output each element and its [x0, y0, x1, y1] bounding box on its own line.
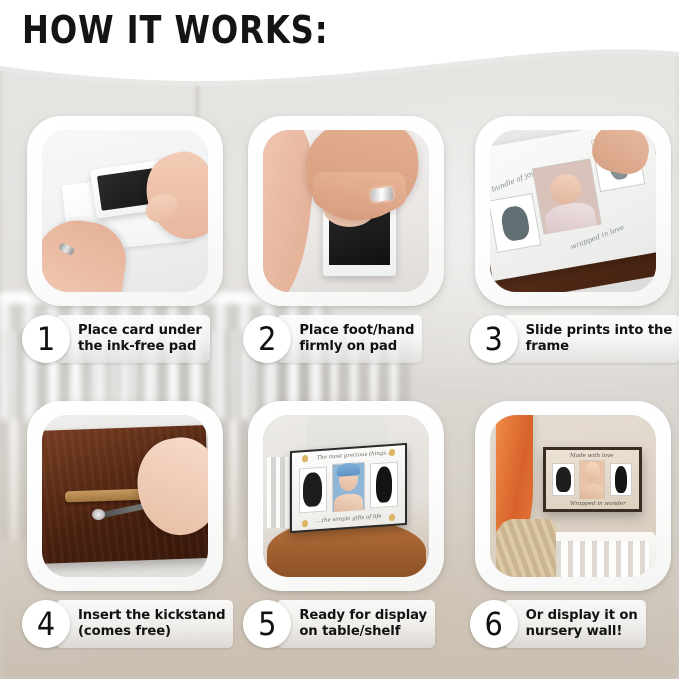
handprint-slot [552, 463, 574, 496]
baby-body [333, 493, 363, 513]
scene-foot-on-pad [263, 130, 429, 292]
frame-text-top: A bundle of joy [490, 169, 536, 196]
scene-slide-prints-into-frame: A bundle of joy wrapped in love [490, 130, 656, 292]
step-number-3: 3 [470, 315, 518, 363]
step-photo-3: A bundle of joy wrapped in love [490, 130, 656, 292]
handprint-slot [299, 466, 327, 513]
step-photo-5: The most precious things... ...the simpl… [263, 415, 429, 577]
step-number-5: 5 [243, 600, 291, 648]
header-panel: HOW IT WORKS: [0, 0, 679, 96]
frame-text-bottom: ...the simple gifts of life [317, 514, 382, 525]
how-it-works-infographic: HOW IT WORKS: [0, 0, 679, 679]
step-label-2: Place foot/hand firmly on pad [299, 323, 414, 355]
step-photo-4 [42, 415, 208, 577]
step-label-bar-3: Slide prints into the frame [504, 315, 679, 363]
step-label-bar-1: Place card under the ink-free pad [56, 315, 210, 363]
scene-frame-on-table: The most precious things... ...the simpl… [263, 415, 429, 577]
step-label-6: Or display it on nursery wall! [526, 608, 638, 640]
handprint-slot [490, 193, 541, 253]
handprint [499, 204, 530, 242]
knit-blanket [496, 519, 556, 577]
footprint-slot [610, 463, 632, 496]
photo-slot [331, 462, 365, 513]
step-caption-1: 1 Place card under the ink-free pad [22, 311, 240, 367]
steps-grid: 1 Place card under the ink-free pad [0, 106, 679, 676]
step-label-bar-2: Place foot/hand firmly on pad [277, 315, 422, 363]
step-photo-tile-4 [27, 401, 223, 591]
footprint-accent-left [302, 455, 308, 462]
photo-slot [579, 460, 605, 500]
photo-slot [531, 159, 601, 235]
handprint [556, 467, 571, 492]
step-caption-3: 3 Slide prints into the frame [470, 311, 679, 367]
step-number-4: 4 [22, 600, 70, 648]
step-caption-6: 6 Or display it on nursery wall! [470, 596, 679, 652]
baby-body [580, 484, 604, 500]
footprint-accent-right [389, 449, 395, 456]
step-photo-6: Made with love Wrapped in wonder [490, 415, 656, 577]
frame-text-top: The most precious things... [317, 450, 391, 461]
step-photo-1 [42, 130, 208, 292]
scene-ink-pad-over-card [42, 130, 208, 292]
handprint [303, 472, 322, 508]
baby-head [584, 462, 600, 481]
step-label-bar-4: Insert the kickstand (comes free) [56, 600, 233, 648]
step-card-3[interactable]: A bundle of joy wrapped in love [453, 106, 679, 391]
step-photo-tile-5: The most precious things... ...the simpl… [248, 401, 444, 591]
frame-text-top: Made with love [570, 453, 614, 459]
step-label-4: Insert the kickstand (comes free) [78, 608, 225, 640]
step-card-5[interactable]: The most precious things... ...the simpl… [226, 391, 452, 676]
step-number-1: 1 [22, 315, 70, 363]
step-photo-2 [263, 130, 429, 292]
step-photo-tile-3: A bundle of joy wrapped in love [475, 116, 671, 306]
step-photo-tile-2 [248, 116, 444, 306]
step-label-bar-5: Ready for display on table/shelf [277, 600, 435, 648]
frame-text-bottom: Wrapped in wonder [570, 501, 626, 507]
step-label-3: Slide prints into the frame [526, 323, 673, 355]
step-number-6: 6 [470, 600, 518, 648]
step-photo-tile-6: Made with love Wrapped in wonder [475, 401, 671, 591]
step-card-6[interactable]: Made with love Wrapped in wonder [453, 391, 679, 676]
step-card-2[interactable]: 2 Place foot/hand firmly on pad [226, 106, 452, 391]
footprint-accent-bottom-left [302, 521, 308, 528]
photo-frame: Made with love Wrapped in wonder [543, 447, 642, 511]
footprint-slot [370, 461, 398, 508]
step-caption-5: 5 Ready for display on table/shelf [243, 596, 461, 652]
baby-hat [337, 463, 360, 478]
scene-frame-on-nursery-wall: Made with love Wrapped in wonder [490, 415, 656, 577]
footprint-accent-bottom-right [389, 515, 395, 522]
step-label-bar-6: Or display it on nursery wall! [504, 600, 646, 648]
step-label-1: Place card under the ink-free pad [78, 323, 202, 355]
step-label-5: Ready for display on table/shelf [299, 608, 427, 640]
footprint [615, 466, 627, 492]
step-card-4[interactable]: 4 Insert the kickstand (comes free) [0, 391, 226, 676]
step-caption-4: 4 Insert the kickstand (comes free) [22, 596, 240, 652]
step-caption-2: 2 Place foot/hand firmly on pad [243, 311, 461, 367]
crib-bars [549, 541, 649, 577]
footprint [376, 466, 392, 503]
scene-insert-kickstand [42, 415, 208, 577]
photo-frame: The most precious things... ...the simpl… [290, 443, 407, 533]
step-photo-tile-1 [27, 116, 223, 306]
step-card-1[interactable]: 1 Place card under the ink-free pad [0, 106, 226, 391]
baby-body [543, 200, 597, 234]
page-title: HOW IT WORKS: [22, 8, 329, 52]
step-number-2: 2 [243, 315, 291, 363]
